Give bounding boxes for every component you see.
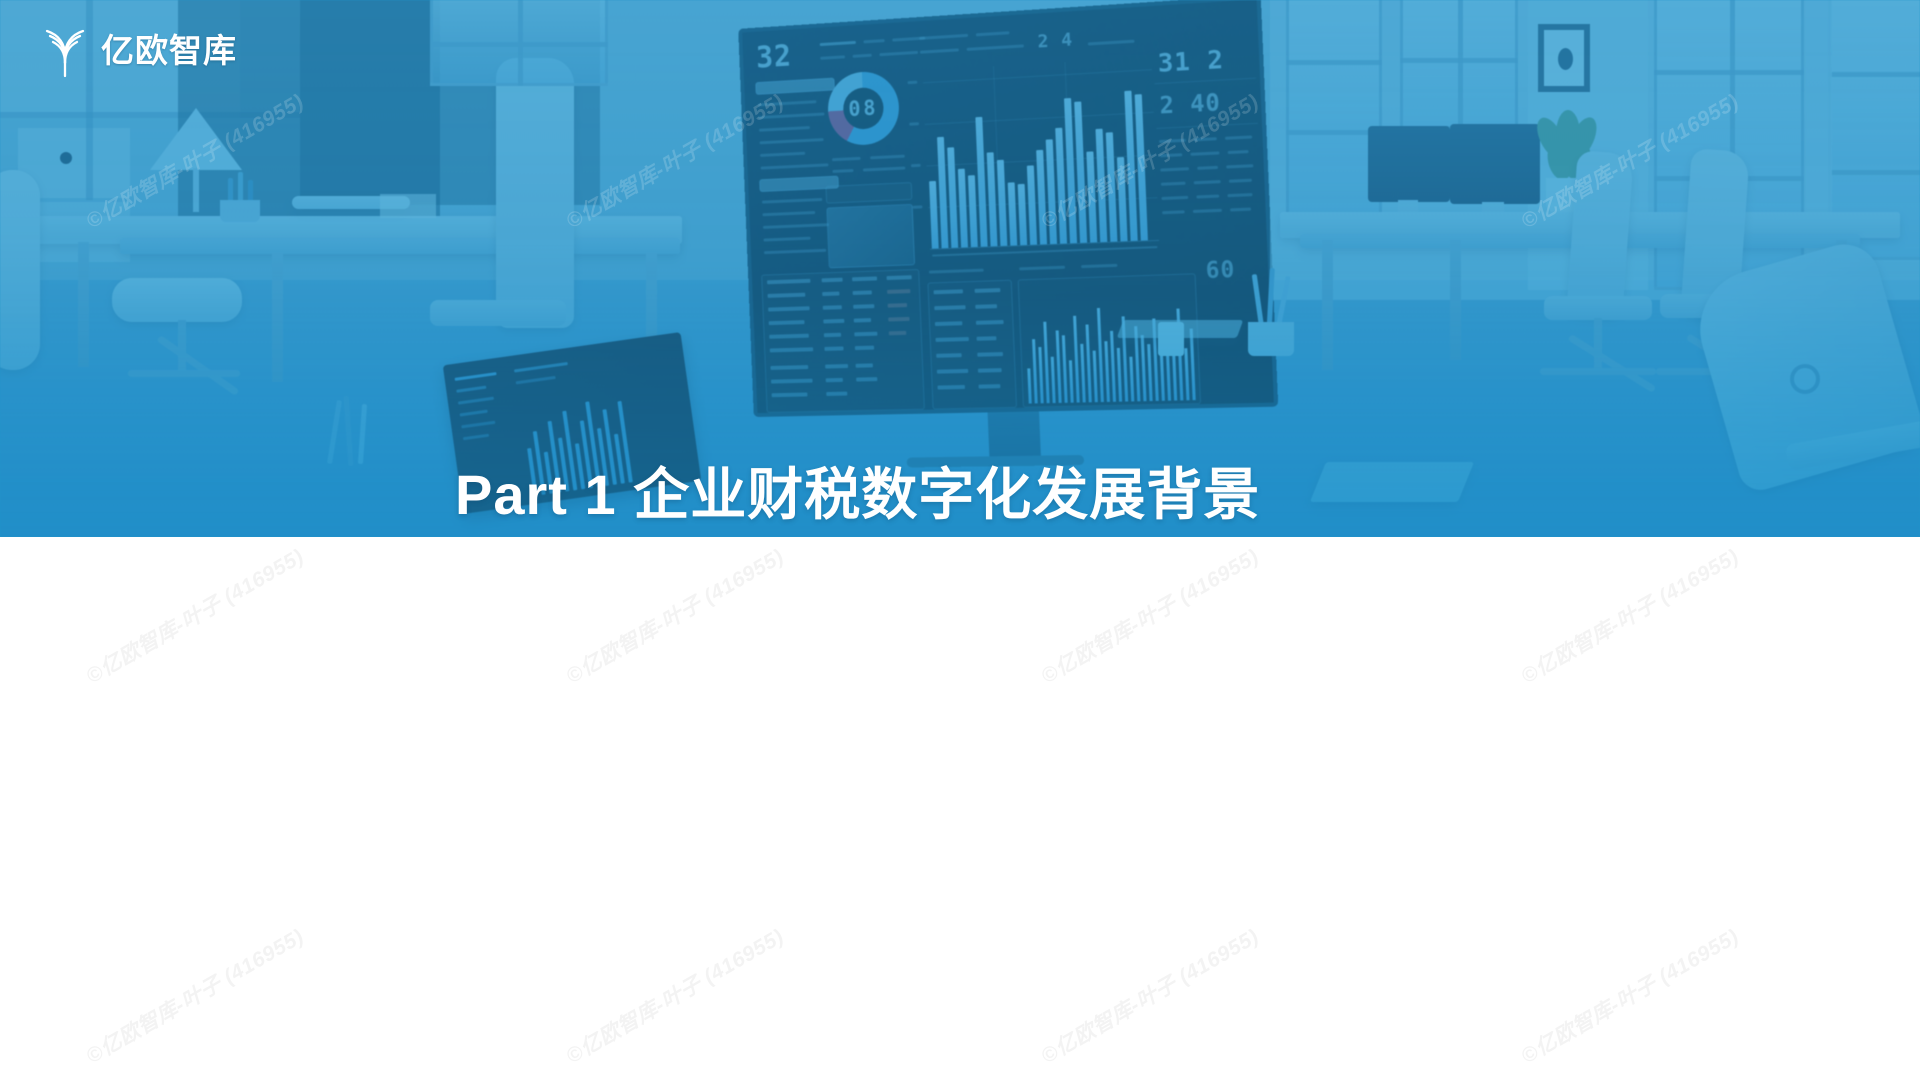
watermark: ©亿欧智库-叶子 (416955): [80, 541, 309, 690]
brand-logo[interactable]: 亿欧智库: [38, 22, 237, 78]
watermark: ©亿欧智库-叶子 (416955): [560, 541, 789, 690]
watermark: ©亿欧智库-叶子 (416955): [1515, 921, 1744, 1070]
watermark: ©亿欧智库-叶子 (416955): [80, 921, 309, 1070]
watermark: ©亿欧智库-叶子 (416955): [560, 921, 789, 1070]
watermark: ©亿欧智库-叶子 (416955): [1035, 921, 1264, 1070]
brand-logo-text: 亿欧智库: [101, 34, 237, 67]
page-title: Part 1 企业财税数字化发展背景: [455, 466, 1260, 525]
office-photo: 32: [0, 0, 1920, 537]
photo-tint-overlay: [0, 0, 1920, 537]
watermark: ©亿欧智库-叶子 (416955): [1035, 541, 1264, 690]
hero-banner: 32: [0, 0, 1920, 537]
slide-root: 32: [0, 0, 1920, 1080]
watermark: ©亿欧智库-叶子 (416955): [1515, 541, 1744, 690]
yiou-sprout-mark: [38, 22, 92, 78]
